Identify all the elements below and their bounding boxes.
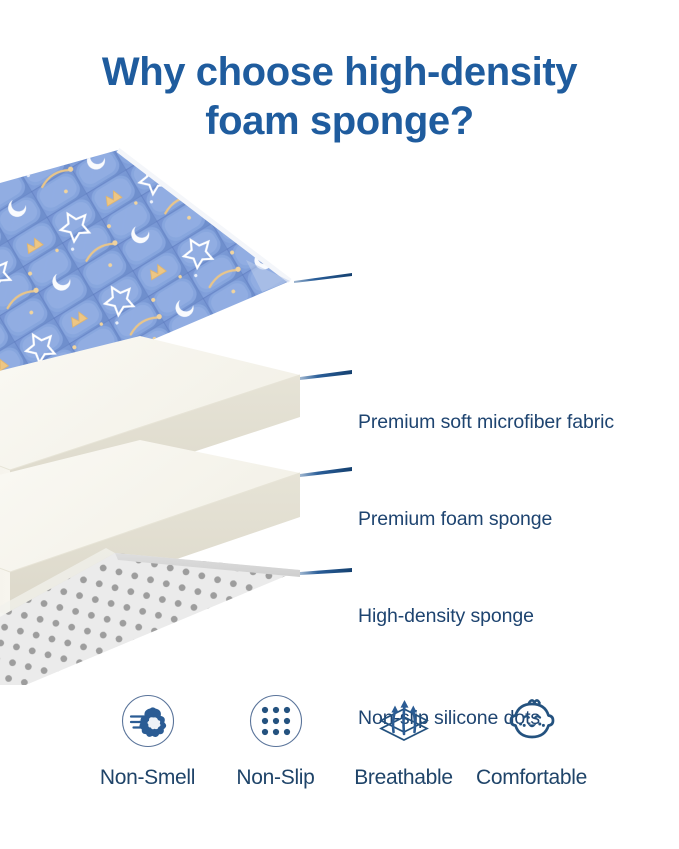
leader-line-2 bbox=[300, 370, 352, 380]
callout-label-microfiber-fabric: Premium soft microfiber fabric bbox=[358, 411, 614, 434]
page-title-line-2: foam sponge? bbox=[0, 97, 679, 146]
leader-line-4 bbox=[300, 568, 352, 575]
airflow-layers-icon bbox=[373, 690, 435, 752]
feature-comfortable: Comfortable bbox=[468, 690, 596, 790]
callout-label-high-density-sponge: High-density sponge bbox=[358, 605, 534, 628]
page-title: Why choose high-density foam sponge? bbox=[0, 48, 679, 146]
infographic-page: Why choose high-density foam sponge? bbox=[0, 0, 679, 849]
exploded-mattress-diagram: Premium soft microfiber fabric Premium f… bbox=[0, 140, 679, 685]
odor-block-icon bbox=[117, 690, 179, 752]
baby-face-icon bbox=[501, 690, 563, 752]
feature-label-breathable: Breathable bbox=[354, 766, 453, 790]
feature-label-comfortable: Comfortable bbox=[476, 766, 587, 790]
leader-line-3 bbox=[300, 467, 352, 477]
feature-list: Non-Smell Non-Slip bbox=[0, 690, 679, 810]
leader-lines bbox=[294, 273, 352, 575]
callout-label-premium-foam-sponge: Premium foam sponge bbox=[358, 508, 552, 531]
feature-non-slip: Non-Slip bbox=[212, 690, 340, 790]
page-title-line-1: Why choose high-density bbox=[0, 48, 679, 97]
leader-line-1 bbox=[294, 273, 352, 283]
feature-label-non-smell: Non-Smell bbox=[100, 766, 195, 790]
feature-label-non-slip: Non-Slip bbox=[236, 766, 314, 790]
feature-non-smell: Non-Smell bbox=[84, 690, 212, 790]
dot-grid-icon bbox=[245, 690, 307, 752]
feature-breathable: Breathable bbox=[340, 690, 468, 790]
